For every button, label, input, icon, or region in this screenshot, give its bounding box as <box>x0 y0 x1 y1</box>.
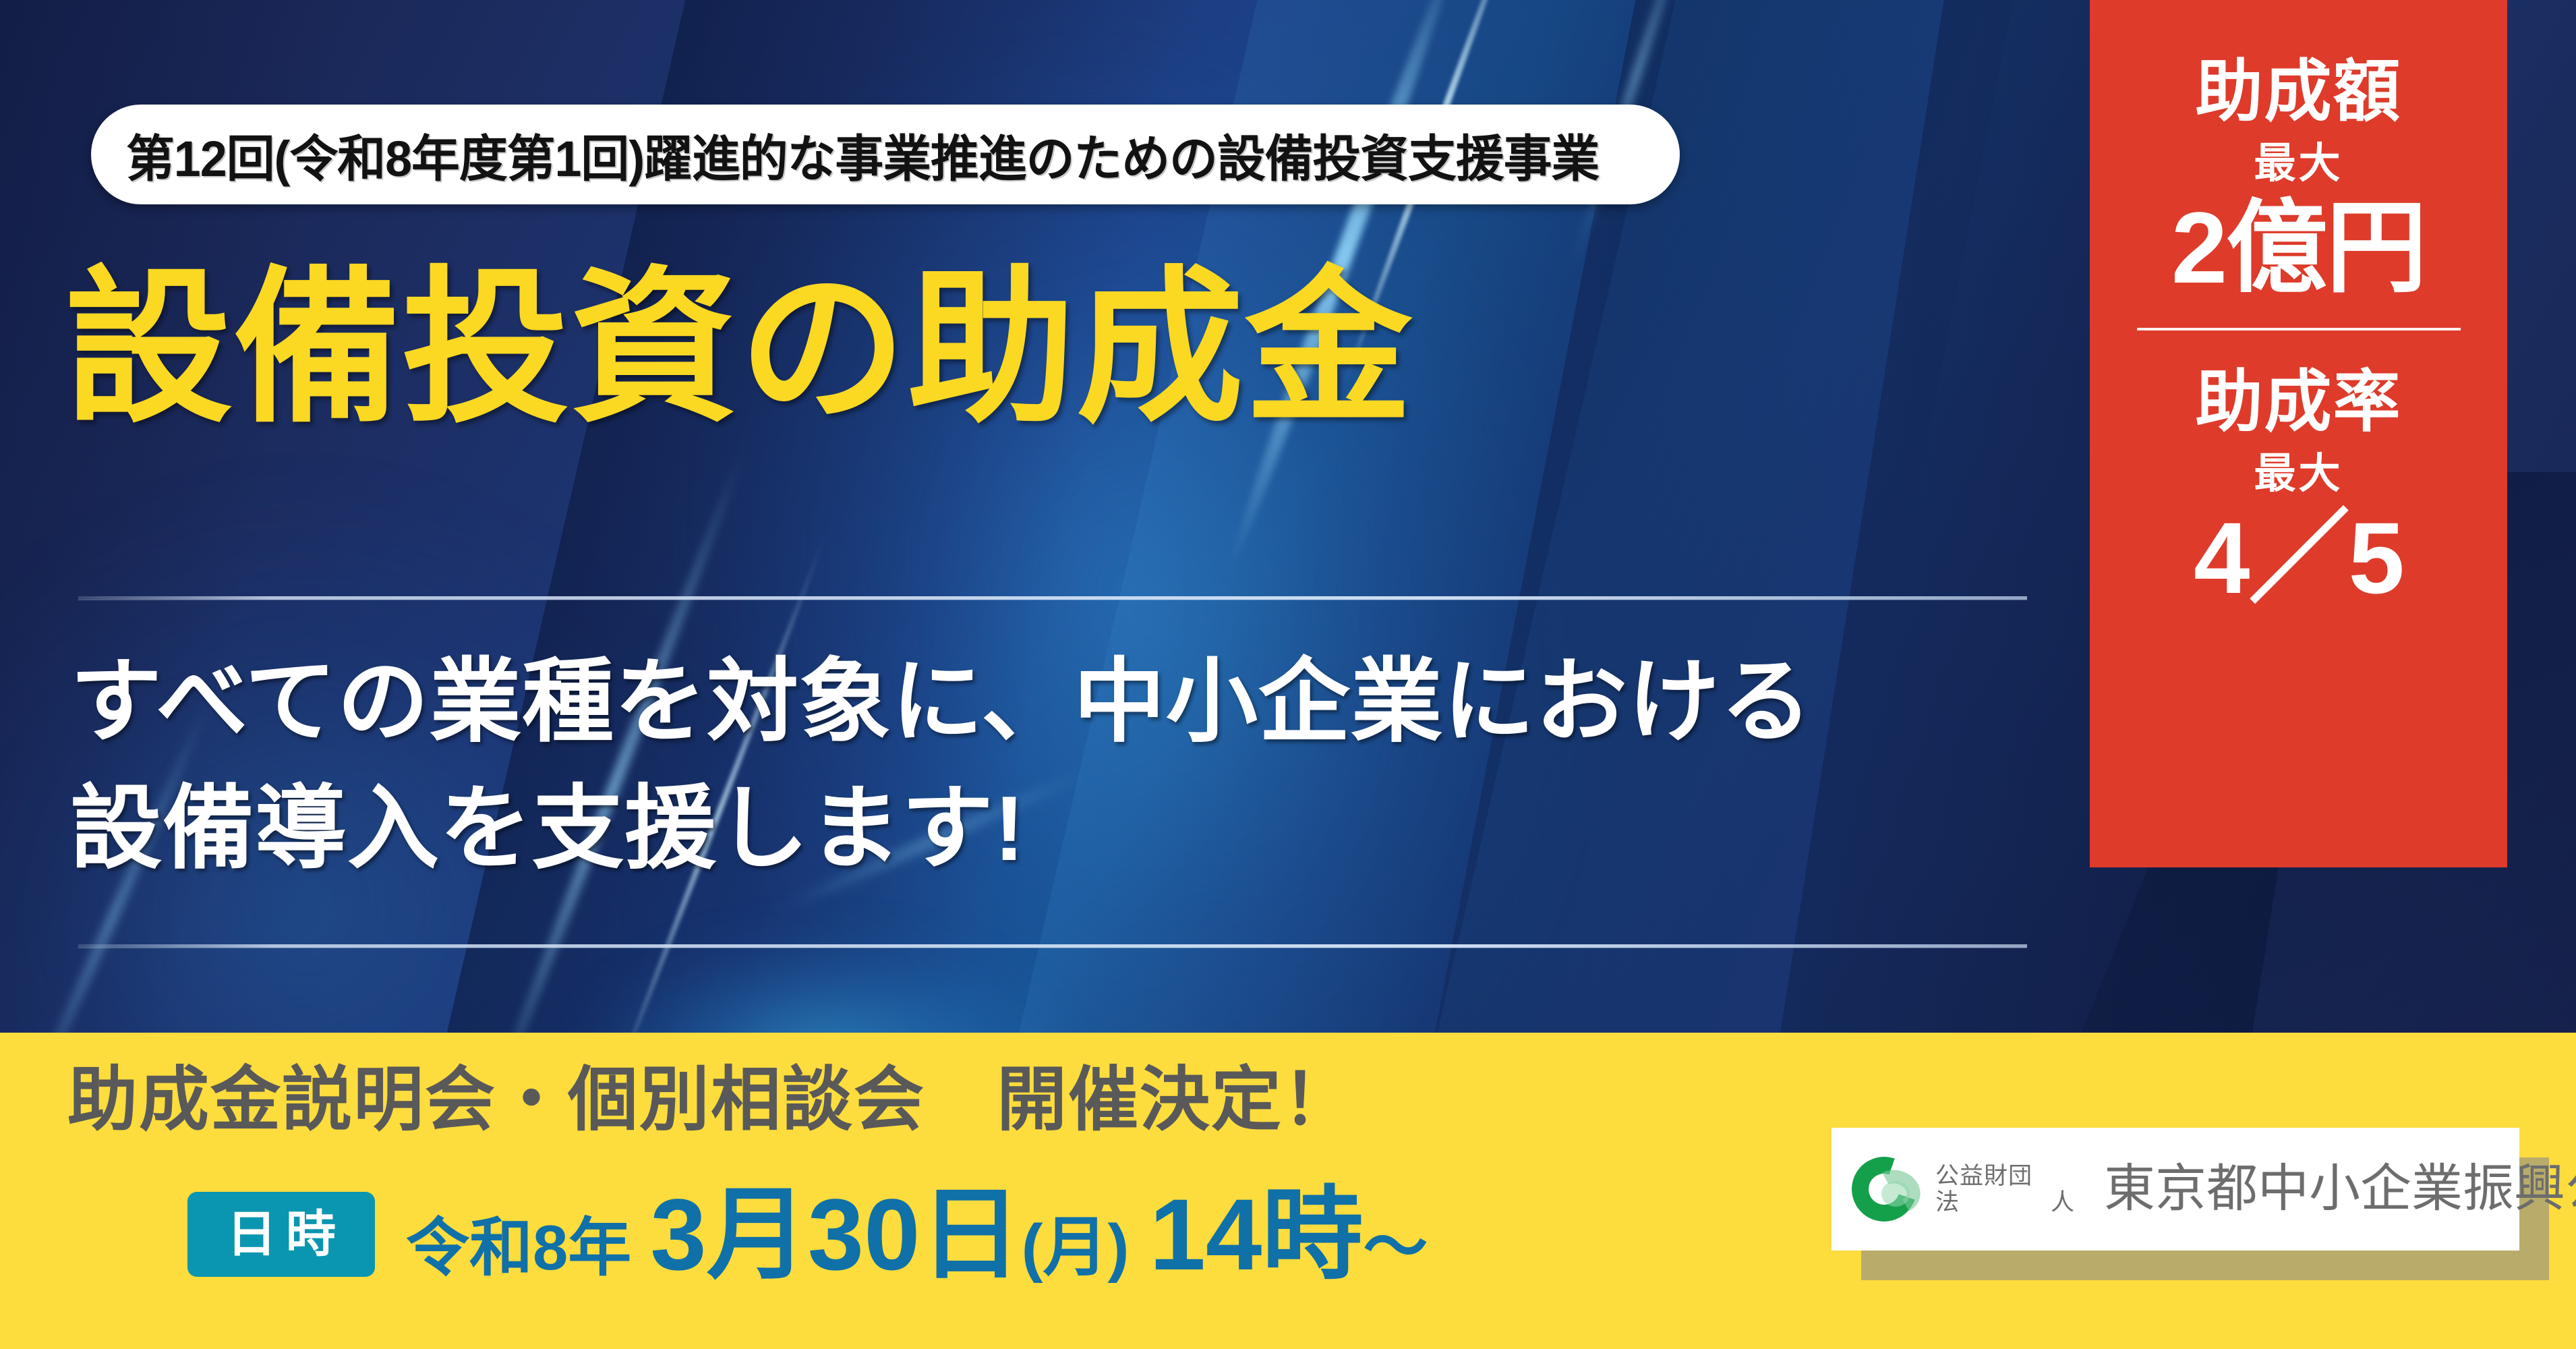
subsidy-rate-title: 助成率 <box>2196 368 2402 436</box>
event-date-text: 令和8年 3月30日 (月) 14時 ～ <box>406 1184 1428 1285</box>
program-badge: 第12回(令和8年度第1回)躍進的な事業推進のための設備投資支援事業 <box>91 105 1680 204</box>
divider-top <box>78 596 2027 600</box>
promotional-banner: 第12回(令和8年度第1回)躍進的な事業推進のための設備投資支援事業 設備投資の… <box>0 0 2576 1349</box>
subsidy-rate-qualifier: 最大 <box>2254 453 2343 495</box>
date-time: 14時 <box>1150 1184 1364 1285</box>
subsidy-rate-value: 4／5 <box>2194 507 2403 608</box>
organization-logo-card: 公益財団 法 人 東京都中小企業振興公社 <box>1832 1128 2519 1251</box>
subsidy-amount-qualifier: 最大 <box>2254 143 2343 185</box>
date-era-year: 令和8年 <box>406 1216 631 1280</box>
date-time-suffix: ～ <box>1363 1215 1428 1280</box>
date-month-day: 3月30日 <box>650 1184 1021 1285</box>
callout-divider <box>2137 328 2461 331</box>
subtitle-line-1: すべての業種を対象に、中小企業における <box>70 656 1813 747</box>
corporation-type-line-1: 公益財団 <box>1935 1163 2089 1189</box>
organization-name: 東京都中小企業振興公社 <box>2104 1164 2576 1215</box>
date-weekday: (月) <box>1022 1215 1130 1280</box>
event-date-row: 日時 令和8年 3月30日 (月) 14時 ～ <box>187 1184 1428 1285</box>
page-title: 設備投資の助成金 <box>65 264 1413 432</box>
corporation-type: 公益財団 法 人 <box>1935 1163 2089 1215</box>
subsidy-amount-block: 助成額 最大 2億円 <box>2090 58 2507 298</box>
corporation-type-line-2: 法 人 <box>1935 1189 2089 1215</box>
subtitle-line-2: 設備導入を支援します! <box>70 782 1025 874</box>
subsidy-rate-block: 助成率 最大 4／5 <box>2090 368 2507 608</box>
event-title: 助成金説明会・個別相談会 開催決定！ <box>67 1065 1354 1135</box>
divider-bottom <box>78 944 2027 948</box>
subsidy-callout-panel: 助成額 最大 2億円 助成率 最大 4／5 <box>2090 0 2507 867</box>
date-label-badge: 日時 <box>187 1192 375 1277</box>
program-badge-label: 第12回(令和8年度第1回)躍進的な事業推進のための設備投資支援事業 <box>126 119 1599 191</box>
subsidy-amount-title: 助成額 <box>2196 58 2402 125</box>
leaf-swoosh-icon <box>1849 1151 1925 1227</box>
subsidy-amount-value: 2億円 <box>2171 197 2426 298</box>
